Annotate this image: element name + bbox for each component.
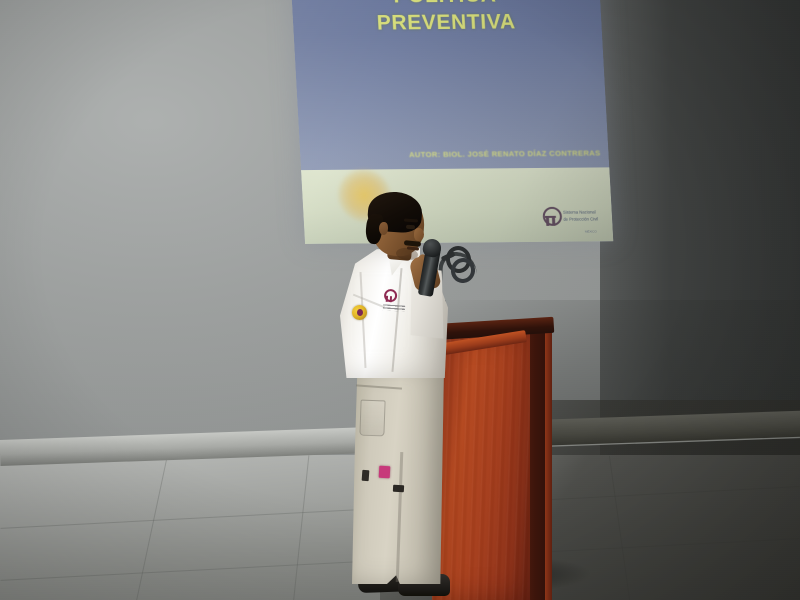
slide-logo-text: Sistema Nacional de Protección Civil [563,210,598,223]
slide-title-line-3: PREVENTIVA [300,8,592,38]
proteccion-civil-logo-icon [542,207,560,226]
presenter-ear [379,222,388,235]
presenter-nose [414,228,424,241]
trouser-black-tab [362,470,370,481]
chest-emblem-leg-shape [390,296,392,302]
floor-tile-seam [133,457,167,600]
photograph-scene: LOS DESASTRES Y LA NECESIDAD DE UNA POLI… [0,0,800,600]
logo-right-leg-shape [552,218,555,226]
podium-wood-grain [432,332,530,600]
slide-logo-text-line-1: Sistema Nacional [563,210,598,217]
floor-tile-seam [292,455,310,600]
shoulder-patch-center [357,309,363,316]
chest-emblem-leg-shape [385,296,387,302]
logo-left-leg-shape [546,218,549,226]
podium-side-edge [545,326,552,600]
trouser-black-tab [393,485,404,493]
trouser-cargo-pocket [359,400,385,437]
wooden-podium [432,318,564,600]
chest-emblem-icon [381,289,396,306]
trouser-pink-patch [379,466,391,479]
slide-logo-subtext: MÉXICO [585,229,597,233]
projected-slide: LOS DESASTRES Y LA NECESIDAD DE UNA POLI… [288,0,614,244]
slide-logo-text-line-2: de Protección Civil [563,216,598,223]
slide-title: LOS DESASTRES Y LA NECESIDAD DE UNA POLI… [296,0,592,37]
presenter-eye [406,225,415,230]
slide-logo: Sistema Nacional de Protección Civil [542,206,599,225]
